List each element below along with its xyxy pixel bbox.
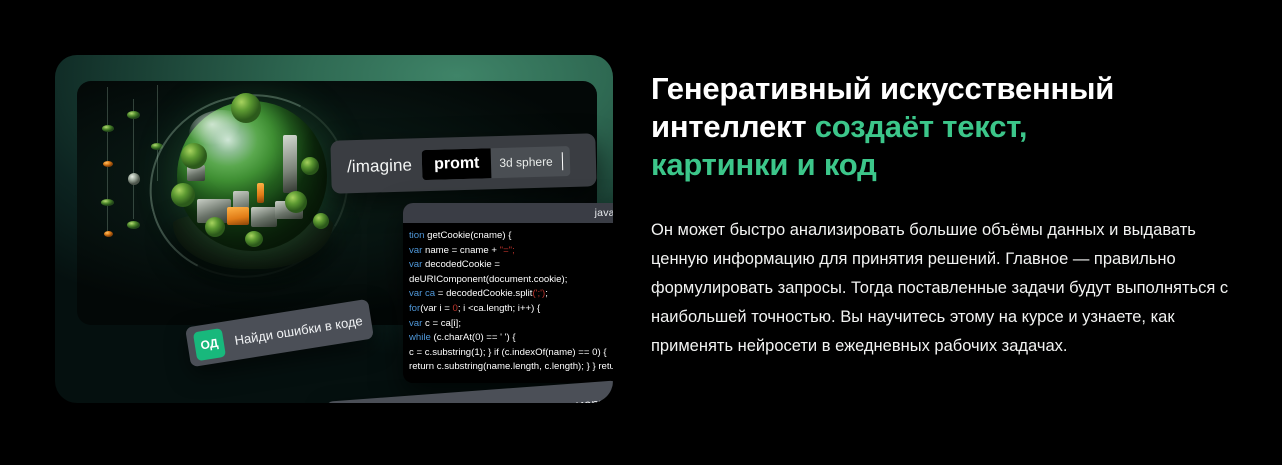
text-cursor-icon xyxy=(561,152,563,170)
code-body: tion getCookie(cname) { var name = cname… xyxy=(403,223,613,375)
imagine-prompt-bar[interactable]: /imagine promt 3d sphere xyxy=(330,133,596,193)
foliage xyxy=(231,93,261,123)
foliage xyxy=(245,231,263,247)
hero-visual-card: /imagine promt 3d sphere javascript tion… xyxy=(55,55,613,403)
code-token: while xyxy=(409,332,434,343)
foliage xyxy=(181,143,207,169)
code-line: var decodedCookie = xyxy=(403,258,613,273)
code-snippet-panel: javascript tion getCookie(cname) { var n… xyxy=(403,203,613,383)
prompt-command-label: /imagine xyxy=(347,155,413,177)
foliage xyxy=(313,213,329,229)
code-token: var xyxy=(409,259,425,270)
code-token: var xyxy=(409,318,425,329)
code-line: deURIComponent(document.cookie); xyxy=(403,273,613,288)
code-line: c = c.substring(1); } if (c.indexOf(name… xyxy=(403,346,613,361)
foliage xyxy=(285,191,307,213)
foliage xyxy=(205,217,225,237)
code-panel-header: javascript xyxy=(403,203,613,223)
code-token: (';') xyxy=(532,288,545,299)
city-block xyxy=(283,135,297,193)
code-line: return c.substring(name.length, c.length… xyxy=(403,360,613,375)
chat-bubble-marketing[interactable]: АС Напиши 10 идей для постов про маркети… xyxy=(326,380,613,403)
code-line: var ca = decodedCookie.split(';'); xyxy=(403,287,613,302)
body-paragraph: Он может быстро анализировать большие об… xyxy=(651,216,1236,361)
prompt-chip-label: promt xyxy=(422,148,492,180)
code-token: getCookie(cname) { xyxy=(427,230,511,241)
code-token: c = ca[i]; xyxy=(425,318,461,329)
code-token: decodedCookie = xyxy=(425,259,500,270)
code-token: var xyxy=(409,245,425,256)
code-line: for(var i = 0; i <ca.length; i++) { xyxy=(403,302,613,317)
code-token: ; i <ca.length; i++) { xyxy=(458,303,540,314)
code-token: var ca xyxy=(409,288,438,299)
code-token: for xyxy=(409,303,420,314)
decor-dot xyxy=(102,125,114,132)
code-token: tion xyxy=(409,230,427,241)
code-line: tion getCookie(cname) { xyxy=(403,229,613,244)
headline-line-1: Генеративный искусственный xyxy=(651,71,1114,106)
decor-dot xyxy=(103,161,113,167)
code-token: c = c.substring(1); } if (c.indexOf(name… xyxy=(409,347,607,358)
code-token: "="; xyxy=(500,245,515,256)
decor-dot xyxy=(101,199,114,206)
headline-accent-2: картинки и код xyxy=(651,147,877,182)
code-token: deURIComponent(document.cookie); xyxy=(409,274,567,285)
headline-line-2: интеллект xyxy=(651,109,815,144)
headline-accent-1: создаёт текст, xyxy=(815,109,1028,144)
code-token: = decodedCookie.split xyxy=(438,288,533,299)
page-title: Генеративный искусственный интеллект соз… xyxy=(651,70,1236,184)
prompt-input-field[interactable]: promt 3d sphere xyxy=(422,146,570,180)
code-token: (var i = xyxy=(420,303,452,314)
foliage xyxy=(301,157,319,175)
copy-column: Генеративный искусственный интеллект соз… xyxy=(651,70,1236,361)
code-line: var name = cname + "="; xyxy=(403,244,613,259)
foliage xyxy=(171,183,195,207)
city-block xyxy=(251,207,277,227)
code-token: (c.charAt(0) == ' ') { xyxy=(434,332,516,343)
code-token: ; xyxy=(545,288,548,299)
avatar: ОД xyxy=(193,328,226,361)
prompt-input-value: 3d sphere xyxy=(491,146,558,178)
code-line: var c = ca[i]; xyxy=(403,317,613,332)
code-token: name = cname + xyxy=(425,245,500,256)
eco-sphere-artwork xyxy=(135,95,361,309)
city-accent xyxy=(257,183,264,203)
code-token: return c.substring(name.length, c.length… xyxy=(409,361,613,372)
chat-bubble-text: Напиши 10 идей для постов про маркетинг xyxy=(377,393,613,403)
decor-dot xyxy=(104,231,113,237)
city-accent xyxy=(227,207,249,225)
code-line: while (c.charAt(0) == ' ') { xyxy=(403,331,613,346)
chat-bubble-text: Найди ошибки в коде xyxy=(233,312,363,347)
code-language-label: javascript xyxy=(595,207,613,219)
